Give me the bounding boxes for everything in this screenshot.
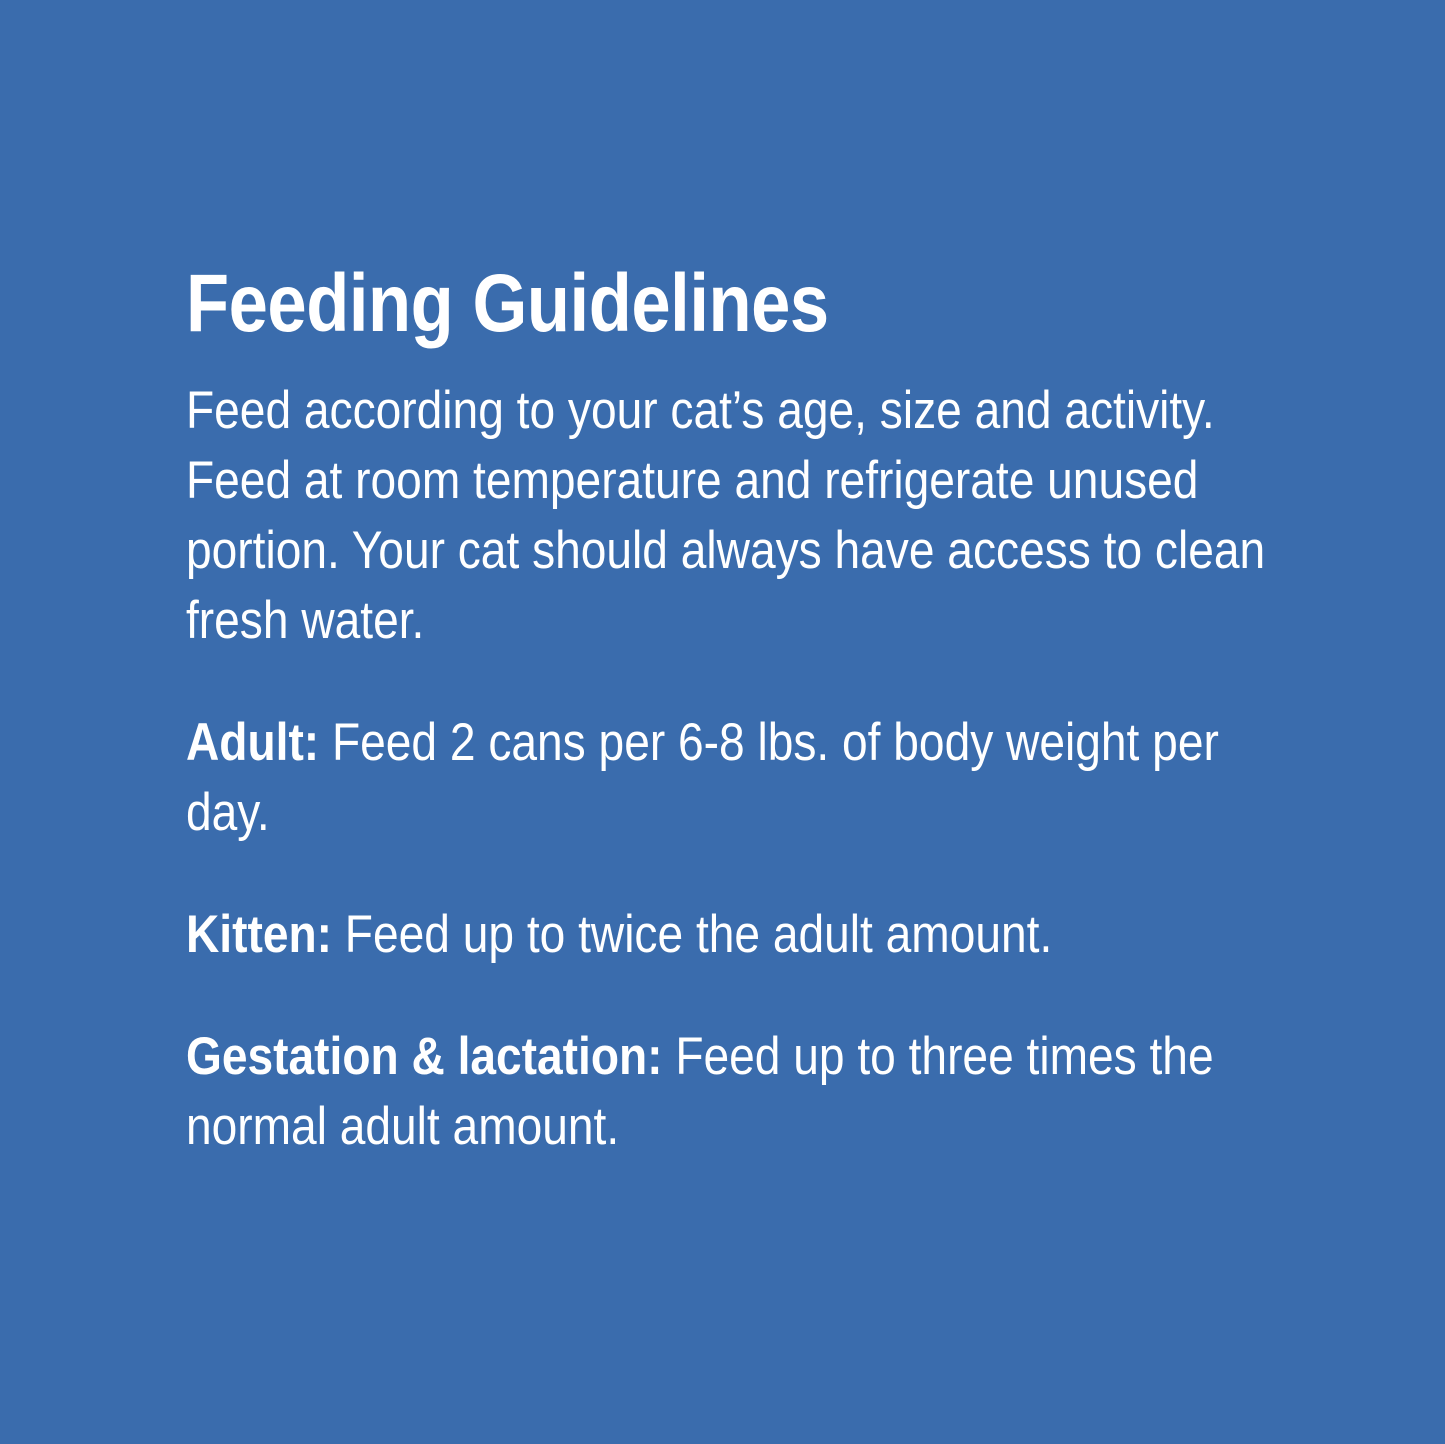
guide-section-gestation-lactation: Gestation & lactation: Feed up to three … xyxy=(186,1022,1274,1162)
guide-text-adult: Feed 2 cans per 6-8 lbs. of body weight … xyxy=(186,713,1219,842)
page-title: Feeding Guidelines xyxy=(186,258,1123,350)
guide-text-kitten: Feed up to twice the adult amount. xyxy=(332,905,1052,964)
content-block: Feeding Guidelines Feed according to you… xyxy=(186,258,1276,1162)
feeding-guidelines-panel: Feeding Guidelines Feed according to you… xyxy=(0,0,1445,1444)
intro-paragraph: Feed according to your cat’s age, size a… xyxy=(186,376,1274,656)
guide-label-kitten: Kitten: xyxy=(186,905,332,964)
guide-label-gestation-lactation: Gestation & lactation: xyxy=(186,1027,663,1086)
guide-section-adult: Adult: Feed 2 cans per 6-8 lbs. of body … xyxy=(186,708,1274,848)
guide-label-adult: Adult: xyxy=(186,713,319,772)
guide-section-kitten: Kitten: Feed up to twice the adult amoun… xyxy=(186,900,1274,970)
